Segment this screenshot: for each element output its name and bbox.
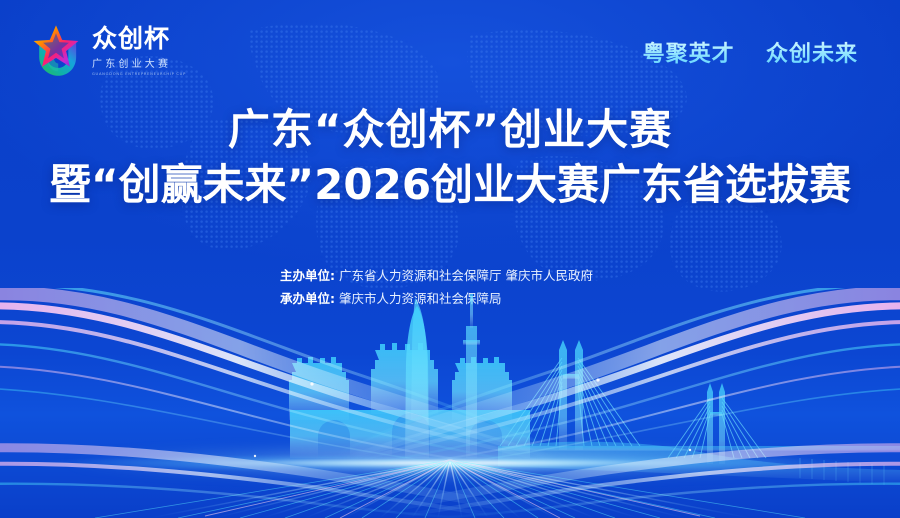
brand-logo[interactable]: 众创杯 广东创业大赛 GUANGDONG ENTREPRENEURSHIP CU… (28, 22, 184, 78)
light-streaks-artwork (0, 288, 900, 518)
skyline-silhouette (0, 288, 900, 518)
horizon-glow-soft (0, 440, 900, 484)
brand-subtitle-en: GUANGDONG ENTREPRENEURSHIP CUP (92, 72, 186, 76)
horizon-glow-core (0, 455, 900, 471)
title-line-1: 广东“众创杯”创业大赛 (0, 104, 900, 156)
organizer-row-undertaker: 承办单位: 肇庆市人力资源和社会保障局 (280, 287, 593, 310)
organizer-label-host: 主办单位: (280, 268, 335, 283)
organizer-block: 主办单位: 广东省人力资源和社会保障厅 肇庆市人民政府 承办单位: 肇庆市人力资… (280, 264, 593, 310)
brand-name-cn: 众创杯 (92, 26, 184, 52)
brand-logo-text: 众创杯 广东创业大赛 GUANGDONG ENTREPRENEURSHIP CU… (92, 24, 184, 76)
poster-banner: 众创杯 广东创业大赛 GUANGDONG ENTREPRENEURSHIP CU… (0, 0, 900, 518)
organizer-label-undertaker: 承办单位: (280, 291, 335, 306)
brand-subtitle-cn: 广东创业大赛 (92, 55, 184, 70)
page-title: 广东“众创杯”创业大赛 暨“创赢未来”2026创业大赛广东省选拔赛 (0, 104, 900, 214)
organizer-row-host: 主办单位: 广东省人力资源和社会保障厅 肇庆市人民政府 (280, 264, 593, 287)
slogan: 粤聚英才 众创未来 (643, 36, 858, 68)
slogan-part-1: 粤聚英才 (643, 42, 735, 67)
organizer-value-undertaker: 肇庆市人力资源和社会保障局 (339, 291, 502, 306)
star-swoosh-logo-icon (28, 22, 84, 78)
title-line-2: 暨“创赢未来”2026创业大赛广东省选拔赛 (0, 156, 900, 214)
organizer-value-host: 广东省人力资源和社会保障厅 肇庆市人民政府 (339, 268, 593, 283)
slogan-part-2: 众创未来 (766, 42, 858, 67)
